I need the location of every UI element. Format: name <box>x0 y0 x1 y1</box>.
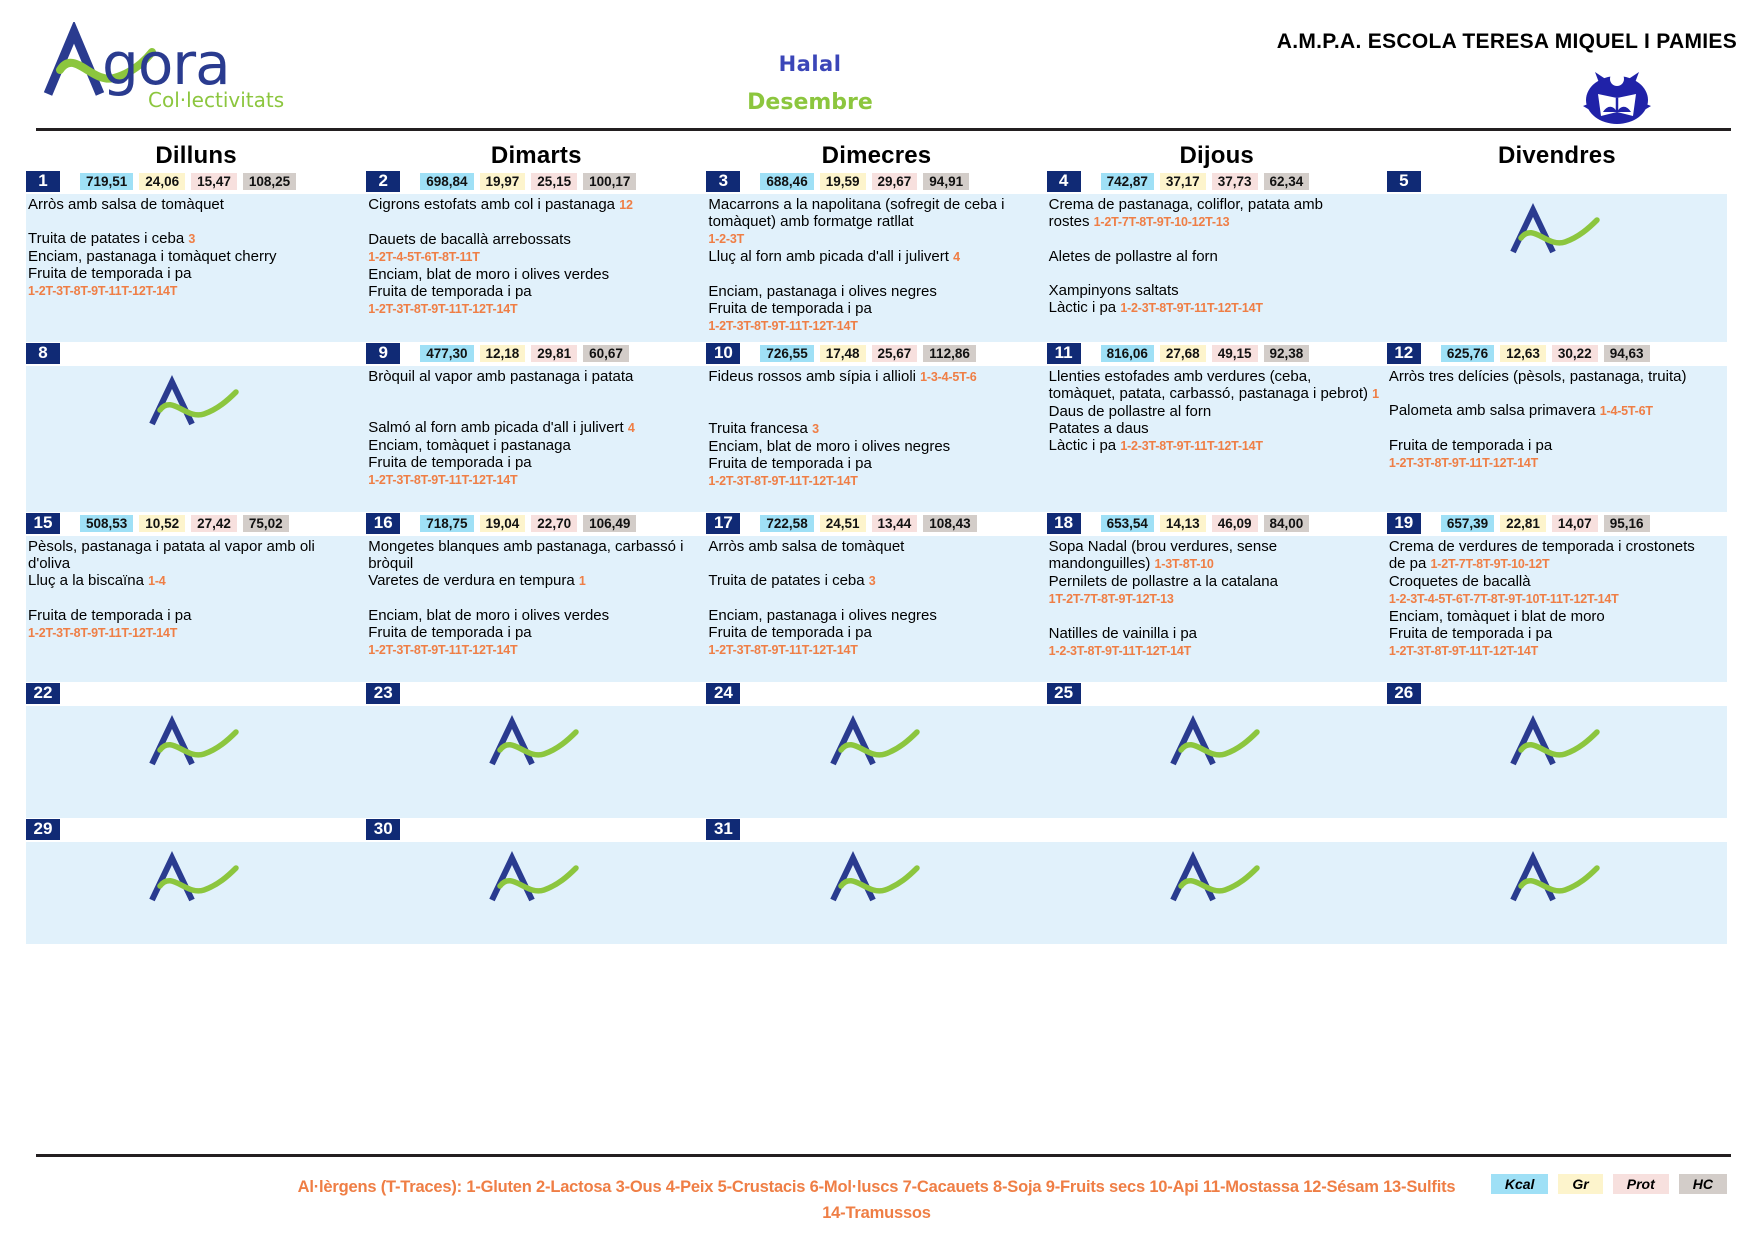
menu-line: Bròquil al vapor amb pastanaga i patata <box>368 368 700 385</box>
day-bar: 23 <box>366 682 706 706</box>
dish-name: Truita francesa <box>708 420 808 437</box>
nutrition-prot: 25,15 <box>531 173 577 190</box>
allergen-codes: 1-2-3T-4-5T-6T-7T-8T-9T-10T-11T-12T-14T <box>1389 592 1619 606</box>
nutrition-hc: 62,34 <box>1264 173 1310 190</box>
menu-line: Enciam, blat de moro i olives verdes <box>368 266 700 283</box>
nutrition-gr: 19,59 <box>820 173 866 190</box>
allergen-codes: 1-2T-4-5T-6T-8T-11T <box>368 250 480 264</box>
day-cell-2[interactable]: 2698,8419,9725,15100,17Cigrons estofats … <box>366 170 706 342</box>
dish-name: Truita de patates i ceba <box>708 572 864 589</box>
menu-line: de pa 1-2T-7T-8T-9T-10-12T <box>1389 555 1721 573</box>
menu-line: 1-2T-3T-8T-9T-11T-12T-14T <box>1389 642 1721 660</box>
allergen-codes: 1-2T-3T-8T-9T-11T-12T-14T <box>1389 456 1538 470</box>
nutrition-gr: 14,13 <box>1160 515 1206 532</box>
menu-line: Lluç al forn amb picada d'all i julivert… <box>708 248 1040 266</box>
spacer <box>368 214 700 231</box>
day-cell-24[interactable]: 24 <box>706 682 1046 818</box>
allergen-codes: 1-2T-3T-8T-9T-11T-12T-14T <box>28 284 177 298</box>
dish-name: Crema de pastanaga, coliflor, patata amb <box>1049 196 1323 213</box>
nutrition-hc: 108,43 <box>923 515 976 532</box>
allergen-codes: 1-2T-3T-8T-9T-11T-12T-14T <box>368 302 517 316</box>
spacer <box>368 590 700 607</box>
dish-name: rostes <box>1049 213 1090 230</box>
day-cell-26[interactable]: 26 <box>1387 682 1727 818</box>
day-bar: 5 <box>1387 170 1727 194</box>
day-number: 22 <box>26 683 60 704</box>
spacer <box>708 403 1040 420</box>
menu-body <box>366 706 706 818</box>
month-label: Desembre <box>600 90 1020 115</box>
calendar-week-row: 15508,5310,5227,4275,02Pèsols, pastanaga… <box>26 512 1727 682</box>
allergen-codes: 1 <box>1372 387 1379 401</box>
nutrition-prot: 37,73 <box>1212 173 1258 190</box>
agora-watermark-icon <box>146 714 242 772</box>
day-number: 31 <box>706 819 740 840</box>
menu-line: Pèsols, pastanaga i patata al vapor amb … <box>28 538 360 572</box>
dish-name: de pa <box>1389 555 1427 572</box>
calendar-week-row: 22 23 24 25 26 <box>26 682 1727 818</box>
dish-name: Fideus rossos amb sípia i allioli <box>708 368 916 385</box>
nutrition-kcal: 508,53 <box>80 515 133 532</box>
nutrition-values: 657,3922,8114,0795,16 <box>1441 515 1650 532</box>
allergen-codes: 1T-2T-7T-8T-9T-12T-13 <box>1049 592 1174 606</box>
agora-watermark-icon <box>146 850 242 908</box>
dish-name: Fruita de temporada i pa <box>368 454 531 471</box>
menu-line: Fruita de temporada i pa <box>708 455 1040 472</box>
menu-line: Fruita de temporada i pa <box>368 624 700 641</box>
nutrition-hc: 75,02 <box>243 515 289 532</box>
agora-watermark-icon <box>486 850 582 908</box>
school-name: A.M.P.A. ESCOLA TERESA MIQUEL I PAMIES <box>1277 30 1737 54</box>
day-cell-11[interactable]: 11816,0627,6849,1592,38Llenties estofade… <box>1047 342 1387 512</box>
menu-body <box>1047 706 1387 818</box>
day-cell-29[interactable]: 29 <box>26 818 366 944</box>
dish-name: Làctic i pa <box>1049 299 1117 316</box>
allergen-legend-line1: Al·lèrgens (T-Traces): 1-Gluten 2-Lactos… <box>298 1178 1456 1196</box>
nutrition-gr: 24,06 <box>139 173 185 190</box>
menu-body: Bròquil al vapor amb pastanaga i patata … <box>366 366 706 512</box>
menu-body: Macarrons a la napolitana (sofregit de c… <box>706 194 1046 342</box>
menu-line: 1T-2T-7T-8T-9T-12T-13 <box>1049 590 1381 608</box>
spacer <box>708 266 1040 283</box>
nutrition-hc: 84,00 <box>1264 515 1310 532</box>
dish-name: Enciam, pastanaga i olives negres <box>708 283 936 300</box>
day-bar: 22 <box>26 682 366 706</box>
nutrition-hc: 100,17 <box>583 173 636 190</box>
allergen-codes: 1-3-4-5T-6 <box>920 370 976 384</box>
dish-name: Cigrons estofats amb col i pastanaga <box>368 196 615 213</box>
nutrition-prot: 46,09 <box>1212 515 1258 532</box>
dish-name: Mongetes blanques amb pastanaga, carbass… <box>368 538 683 572</box>
day-bar: 19657,3922,8114,0795,16 <box>1387 512 1727 536</box>
nutrition-values: 625,7612,6330,2294,63 <box>1441 345 1650 362</box>
spacer <box>708 590 1040 607</box>
day-bar: 31 <box>706 818 1046 842</box>
nutrition-hc: 94,91 <box>923 173 969 190</box>
day-number: 8 <box>26 343 60 364</box>
menu-body <box>706 842 1046 944</box>
calendar-week-row: 1719,5124,0615,47108,25Arròs amb salsa d… <box>26 170 1727 342</box>
dish-name: Truita de patates i ceba <box>28 230 184 247</box>
menu-line: 1-2-3T-8T-9T-11T-12T-14T <box>1049 642 1381 660</box>
day-bar: 1719,5124,0615,47108,25 <box>26 170 366 194</box>
menu-body: Crema de pastanaga, coliflor, patata amb… <box>1047 194 1387 342</box>
menu-center-heading: Halal Desembre <box>600 52 1020 115</box>
allergen-codes: 3 <box>188 232 195 246</box>
agora-watermark-icon <box>827 714 923 772</box>
nutrition-values: 477,3012,1829,8160,67 <box>420 345 629 362</box>
nutrition-prot: 30,22 <box>1552 345 1598 362</box>
menu-line: Xampinyons saltats <box>1049 282 1381 299</box>
dish-name: Fruita de temporada i pa <box>1389 625 1552 642</box>
nutrition-gr: 10,52 <box>139 515 185 532</box>
dish-name: Macarrons a la napolitana (sofregit de c… <box>708 196 1004 230</box>
nutrition-prot: 25,67 <box>872 345 918 362</box>
day-bar: 17722,5824,5113,44108,43 <box>706 512 1046 536</box>
day-cell-19[interactable]: 19657,3922,8114,0795,16Crema de verdures… <box>1387 512 1727 682</box>
nutrition-gr: 19,97 <box>480 173 526 190</box>
menu-line: Macarrons a la napolitana (sofregit de c… <box>708 196 1040 230</box>
spacer <box>28 213 360 230</box>
menu-line: Enciam, pastanaga i tomàquet cherry <box>28 248 360 265</box>
allergen-codes: 1-2T-3T-8T-9T-11T-12T-14T <box>368 473 517 487</box>
menu-line: rostes 1-2T-7T-8T-9T-10-12T-13 <box>1049 213 1381 231</box>
day-number: 18 <box>1047 513 1081 534</box>
page-header: gora Col·lectivitats Halal Desembre A.M.… <box>0 0 1753 128</box>
nutrition-kcal: 653,54 <box>1101 515 1154 532</box>
menu-body <box>1387 194 1727 342</box>
agora-watermark-icon <box>1507 202 1603 260</box>
menu-calendar: 1719,5124,0615,47108,25Arròs amb salsa d… <box>0 170 1753 944</box>
allergen-codes: 1-2-3T-8T-9T-11T-12T-14T <box>1120 439 1262 453</box>
nutrition-values: 698,8419,9725,15100,17 <box>420 173 636 190</box>
menu-body <box>1387 706 1727 818</box>
menu-line: 1-2T-3T-8T-9T-11T-12T-14T <box>28 624 360 642</box>
allergen-codes: 12 <box>619 198 633 212</box>
allergen-codes: 1-2-3T-8T-9T-11T-12T-14T <box>1049 644 1191 658</box>
menu-body: Llenties estofades amb verdures (ceba, t… <box>1047 366 1387 512</box>
allergen-codes: 1-2T-7T-8T-9T-10-12T-13 <box>1094 215 1230 229</box>
agora-watermark-icon <box>1507 850 1603 908</box>
dish-name: Enciam, blat de moro i olives negres <box>708 438 950 455</box>
menu-line: Lluç a la biscaïna 1-4 <box>28 572 360 590</box>
menu-body <box>706 706 1046 818</box>
allergen-codes: 1-2T-3T-8T-9T-11T-12T-14T <box>708 643 857 657</box>
menu-body <box>26 706 366 818</box>
menu-line: Fideus rossos amb sípia i allioli 1-3-4-… <box>708 368 1040 386</box>
agora-watermark-icon <box>486 714 582 772</box>
allergen-codes: 1-2-3T-8T-9T-11T-12T-14T <box>1120 301 1262 315</box>
menu-line: Truita de patates i ceba 3 <box>28 230 360 248</box>
menu-line: Crema de verdures de temporada i croston… <box>1389 538 1721 555</box>
day-cell-25[interactable]: 25 <box>1047 682 1387 818</box>
nutrition-values: 718,7519,0422,70106,49 <box>420 515 636 532</box>
dish-name: Fruita de temporada i pa <box>28 265 191 282</box>
menu-body: Mongetes blanques amb pastanaga, carbass… <box>366 536 706 682</box>
menu-body: Crema de verdures de temporada i croston… <box>1387 536 1727 682</box>
menu-line: Crema de pastanaga, coliflor, patata amb <box>1049 196 1381 213</box>
day-number: 16 <box>366 513 400 534</box>
menu-line: Enciam, blat de moro i olives verdes <box>368 607 700 624</box>
menu-line: 1-2T-3T-8T-9T-11T-12T-14T <box>1389 454 1721 472</box>
day-cell-blank[interactable]: 0 <box>1387 818 1727 944</box>
legend-kcal: Kcal <box>1491 1174 1549 1194</box>
menu-body: Fideus rossos amb sípia i allioli 1-3-4-… <box>706 366 1046 512</box>
menu-line: Aletes de pollastre al forn <box>1049 248 1381 265</box>
weekday-header-row: Dilluns Dimarts Dimecres Dijous Divendre… <box>26 128 1727 170</box>
day-bar: 9477,3012,1829,8160,67 <box>366 342 706 366</box>
spacer <box>368 385 700 402</box>
allergen-codes: 1-4-5T-6T <box>1600 404 1653 418</box>
nutrition-values: 742,8737,1737,7362,34 <box>1101 173 1310 190</box>
dish-name: Bròquil al vapor amb pastanaga i patata <box>368 368 633 385</box>
calendar-week-row: 8 9477,3012,1829,8160,67Bròquil al vapor… <box>26 342 1727 512</box>
day-cell-23[interactable]: 23 <box>366 682 706 818</box>
allergen-codes: 3 <box>812 422 819 436</box>
day-cell-18[interactable]: 18653,5414,1346,0984,00Sopa Nadal (brou … <box>1047 512 1387 682</box>
menu-body: Arròs tres delícies (pèsols, pastanaga, … <box>1387 366 1727 512</box>
day-bar: 2698,8419,9725,15100,17 <box>366 170 706 194</box>
day-number: 4 <box>1047 171 1081 192</box>
dish-name: Natilles de vainilla i pa <box>1049 625 1197 642</box>
menu-line: Fruita de temporada i pa <box>1389 437 1721 454</box>
nutrition-prot: 14,07 <box>1552 515 1598 532</box>
day-bar: 25 <box>1047 682 1387 706</box>
dish-name: Pèsols, pastanaga i patata al vapor amb … <box>28 538 315 572</box>
menu-line: Salmó al forn amb picada d'all i juliver… <box>368 419 700 437</box>
day-bar: 4742,8737,1737,7362,34 <box>1047 170 1387 194</box>
menu-body <box>366 842 706 944</box>
nutrition-prot: 27,42 <box>191 515 237 532</box>
allergen-codes: 1-2T-3T-8T-9T-11T-12T-14T <box>708 474 857 488</box>
agora-watermark-icon <box>146 374 242 432</box>
dish-name: Arròs amb salsa de tomàquet <box>708 538 904 555</box>
nutrition-kcal: 718,75 <box>420 515 473 532</box>
allergen-codes: 1-2T-3T-8T-9T-11T-12T-14T <box>1389 644 1538 658</box>
dish-name: Aletes de pollastre al forn <box>1049 248 1218 265</box>
dish-name: Arròs tres delícies (pèsols, pastanaga, … <box>1389 368 1687 385</box>
day-bar: 0 <box>1047 818 1387 842</box>
nutrition-prot: 15,47 <box>191 173 237 190</box>
day-cell-8[interactable]: 8 <box>26 342 366 512</box>
nutrition-kcal: 816,06 <box>1101 345 1154 362</box>
nutrition-kcal: 719,51 <box>80 173 133 190</box>
menu-line: Enciam, blat de moro i olives negres <box>708 438 1040 455</box>
nutrition-kcal: 722,58 <box>760 515 813 532</box>
day-cell-blank[interactable]: 0 <box>1047 818 1387 944</box>
nutrition-values: 508,5310,5227,4275,02 <box>80 515 289 532</box>
menu-body: Sopa Nadal (brou verdures, sense mandong… <box>1047 536 1387 682</box>
allergen-codes: 1-4 <box>148 574 165 588</box>
menu-line: Làctic i pa 1-2-3T-8T-9T-11T-12T-14T <box>1049 437 1381 455</box>
spacer <box>28 590 360 607</box>
nutrition-gr: 24,51 <box>820 515 866 532</box>
dish-name: Fruita de temporada i pa <box>708 624 871 641</box>
weekday-dimarts: Dimarts <box>366 142 706 170</box>
day-cell-10[interactable]: 10726,5517,4825,67112,86Fideus rossos am… <box>706 342 1046 512</box>
nutrition-hc: 112,86 <box>923 345 976 362</box>
day-cell-4[interactable]: 4742,8737,1737,7362,34Crema de pastanaga… <box>1047 170 1387 342</box>
dish-name: Enciam, tomàquet i blat de moro <box>1389 608 1605 625</box>
dish-name: Enciam, pastanaga i tomàquet cherry <box>28 248 276 265</box>
menu-body <box>26 842 366 944</box>
dish-name: Lluç al forn amb picada d'all i julivert <box>708 248 948 265</box>
menu-line: 1-2T-4-5T-6T-8T-11T <box>368 248 700 266</box>
menu-line: Fruita de temporada i pa <box>368 454 700 471</box>
menu-line: Enciam, pastanaga i olives negres <box>708 283 1040 300</box>
day-cell-9[interactable]: 9477,3012,1829,8160,67Bròquil al vapor a… <box>366 342 706 512</box>
day-number: 26 <box>1387 683 1421 704</box>
allergen-codes: 1-2T-3T-8T-9T-11T-12T-14T <box>28 626 177 640</box>
menu-body: Arròs amb salsa de tomàquet Truita de pa… <box>26 194 366 342</box>
dish-name: Daus de pollastre al forn <box>1049 403 1212 420</box>
dish-name: Enciam, pastanaga i olives negres <box>708 607 936 624</box>
weekday-dimecres: Dimecres <box>706 142 1046 170</box>
dish-name: Pernilets de pollastre a la catalana <box>1049 573 1278 590</box>
menu-line: Sopa Nadal (brou verdures, sense mandong… <box>1049 538 1381 573</box>
dish-name: Fruita de temporada i pa <box>708 455 871 472</box>
agora-watermark-icon <box>1167 714 1263 772</box>
day-number: 10 <box>706 343 740 364</box>
nutrition-values: 816,0627,6849,1592,38 <box>1101 345 1310 362</box>
day-cell-5[interactable]: 5 <box>1387 170 1727 342</box>
day-number: 12 <box>1387 343 1421 364</box>
menu-line: Arròs amb salsa de tomàquet <box>28 196 360 213</box>
day-cell-16[interactable]: 16718,7519,0422,70106,49Mongetes blanque… <box>366 512 706 682</box>
menu-body: Arròs amb salsa de tomàquet Truita de pa… <box>706 536 1046 682</box>
day-number: 25 <box>1047 683 1081 704</box>
menu-line: Truita de patates i ceba 3 <box>708 572 1040 590</box>
allergen-legend-line2: 14-Tramussos <box>0 1200 1753 1226</box>
allergen-codes: 1 <box>579 574 586 588</box>
day-bar: 18653,5414,1346,0984,00 <box>1047 512 1387 536</box>
spacer <box>708 555 1040 572</box>
dish-name: Enciam, blat de moro i olives verdes <box>368 607 609 624</box>
nutrition-prot: 22,70 <box>531 515 577 532</box>
dish-name: Llenties estofades amb verdures (ceba, t… <box>1049 368 1368 402</box>
spacer <box>1049 231 1381 248</box>
day-bar: 16718,7519,0422,70106,49 <box>366 512 706 536</box>
dish-name: Salmó al forn amb picada d'all i juliver… <box>368 419 623 436</box>
nutrition-gr: 12,18 <box>480 345 526 362</box>
nutrition-legend: Kcal Gr Prot HC <box>1491 1174 1727 1194</box>
day-cell-31[interactable]: 31 <box>706 818 1046 944</box>
day-cell-15[interactable]: 15508,5310,5227,4275,02Pèsols, pastanaga… <box>26 512 366 682</box>
menu-line: Mongetes blanques amb pastanaga, carbass… <box>368 538 700 572</box>
day-number: 5 <box>1387 171 1421 192</box>
menu-line: Arròs amb salsa de tomàquet <box>708 538 1040 555</box>
day-number: 3 <box>706 171 740 192</box>
nutrition-values: 726,5517,4825,67112,86 <box>760 345 975 362</box>
nutrition-gr: 27,68 <box>1160 345 1206 362</box>
dish-name: Varetes de verdura en tempura <box>368 572 575 589</box>
menu-body: Pèsols, pastanaga i patata al vapor amb … <box>26 536 366 682</box>
legend-gr: Gr <box>1558 1174 1602 1194</box>
nutrition-values: 722,5824,5113,44108,43 <box>760 515 976 532</box>
day-bar: 12625,7612,6330,2294,63 <box>1387 342 1727 366</box>
day-number: 29 <box>26 819 60 840</box>
legend-hc: HC <box>1679 1174 1727 1194</box>
nutrition-prot: 49,15 <box>1212 345 1258 362</box>
agora-logo: gora Col·lectivitats <box>40 22 290 112</box>
dish-name: Crema de verdures de temporada i croston… <box>1389 538 1695 555</box>
menu-line: Arròs tres delícies (pèsols, pastanaga, … <box>1389 368 1721 385</box>
menu-line: Enciam, tomàquet i blat de moro <box>1389 608 1721 625</box>
menu-line: Làctic i pa 1-2-3T-8T-9T-11T-12T-14T <box>1049 299 1381 317</box>
allergen-codes: 1-3T-8T-10 <box>1155 557 1214 571</box>
day-cell-22[interactable]: 22 <box>26 682 366 818</box>
spacer <box>1389 385 1721 402</box>
day-cell-30[interactable]: 30 <box>366 818 706 944</box>
nutrition-kcal: 657,39 <box>1441 515 1494 532</box>
allergen-codes: 3 <box>869 574 876 588</box>
day-bar: 15508,5310,5227,4275,02 <box>26 512 366 536</box>
menu-line: Pernilets de pollastre a la catalana <box>1049 573 1381 590</box>
menu-line: Enciam, pastanaga i olives negres <box>708 607 1040 624</box>
menu-line: 1-2T-3T-8T-9T-11T-12T-14T <box>368 471 700 489</box>
menu-line: 1-2T-3T-8T-9T-11T-12T-14T <box>368 300 700 318</box>
allergen-codes: 4 <box>953 250 960 264</box>
day-number: 24 <box>706 683 740 704</box>
menu-line: 1-2-3T <box>708 230 1040 248</box>
weekday-divendres: Divendres <box>1387 142 1727 170</box>
menu-line: 1-2T-3T-8T-9T-11T-12T-14T <box>708 472 1040 490</box>
school-crest-icon <box>1581 62 1653 126</box>
header-divider <box>36 128 1731 131</box>
weekday-dijous: Dijous <box>1047 142 1387 170</box>
nutrition-kcal: 688,46 <box>760 173 813 190</box>
nutrition-kcal: 625,76 <box>1441 345 1494 362</box>
day-cell-3[interactable]: 3688,4619,5929,6794,91Macarrons a la nap… <box>706 170 1046 342</box>
day-number: 23 <box>366 683 400 704</box>
dish-name: Xampinyons saltats <box>1049 282 1179 299</box>
menu-line: Varetes de verdura en tempura 1 <box>368 572 700 590</box>
nutrition-gr: 37,17 <box>1160 173 1206 190</box>
nutrition-kcal: 742,87 <box>1101 173 1154 190</box>
nutrition-kcal: 698,84 <box>420 173 473 190</box>
day-cell-12[interactable]: 12625,7612,6330,2294,63Arròs tres delíci… <box>1387 342 1727 512</box>
allergen-codes: 1-2-3T <box>708 232 744 246</box>
nutrition-values: 688,4619,5929,6794,91 <box>760 173 969 190</box>
menu-body <box>26 366 366 512</box>
nutrition-hc: 95,16 <box>1604 515 1650 532</box>
menu-line: 1-2-3T-4-5T-6T-7T-8T-9T-10T-11T-12T-14T <box>1389 590 1721 608</box>
day-bar: 11816,0627,6849,1592,38 <box>1047 342 1387 366</box>
menu-line: 1-2T-3T-8T-9T-11T-12T-14T <box>368 641 700 659</box>
menu-line: Dauets de bacallà arrebossats <box>368 231 700 248</box>
menu-line: Palometa amb salsa primavera 1-4-5T-6T <box>1389 402 1721 420</box>
menu-line: Cigrons estofats amb col i pastanaga 12 <box>368 196 700 214</box>
halal-label: Halal <box>600 52 1020 76</box>
nutrition-hc: 92,38 <box>1264 345 1310 362</box>
dish-name: Dauets de bacallà arrebossats <box>368 231 571 248</box>
day-bar: 24 <box>706 682 1046 706</box>
nutrition-hc: 94,63 <box>1604 345 1650 362</box>
dish-name: Enciam, blat de moro i olives verdes <box>368 266 609 283</box>
day-cell-1[interactable]: 1719,5124,0615,47108,25Arròs amb salsa d… <box>26 170 366 342</box>
day-bar: 0 <box>1387 818 1727 842</box>
day-cell-17[interactable]: 17722,5824,5113,44108,43Arròs amb salsa … <box>706 512 1046 682</box>
day-bar: 10726,5517,4825,67112,86 <box>706 342 1046 366</box>
menu-body <box>1047 842 1387 944</box>
dish-name: Fruita de temporada i pa <box>1389 437 1552 454</box>
nutrition-hc: 108,25 <box>243 173 296 190</box>
menu-line: Daus de pollastre al forn <box>1049 403 1381 420</box>
page-footer: Al·lèrgens (T-Traces): 1-Gluten 2-Lactos… <box>0 1148 1753 1240</box>
legend-prot: Prot <box>1613 1174 1669 1194</box>
menu-line: Croquetes de bacallà <box>1389 573 1721 590</box>
day-number: 2 <box>366 171 400 192</box>
